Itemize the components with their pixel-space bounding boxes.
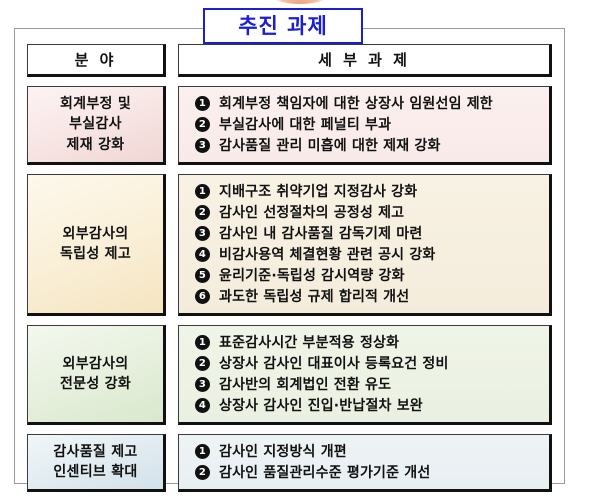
- decorative-top-arc: [272, 0, 328, 4]
- table-row: 외부감사의 전문성 강화 1 표준감사시간 부분적용 정상화 2 상장사 감사인…: [27, 325, 552, 425]
- list-item-text: 감사인 지정방식 개편: [219, 445, 347, 459]
- detail-cell-3: 1 표준감사시간 부분적용 정상화 2 상장사 감사인 대표이사 등록요건 정비…: [178, 325, 552, 425]
- bullet-number-icon: 1: [195, 184, 210, 199]
- tasks-table: 분 야 세 부 과 제 회계부정 및 부실감사 제재 강화 1 회계부정 책임자…: [27, 44, 552, 501]
- list-item: 3 감사품질 관리 미흡에 대한 제재 강화: [195, 135, 539, 156]
- list-item: 2 상장사 감사인 대표이사 등록요건 정비: [195, 353, 539, 374]
- bullet-number-icon: 6: [195, 289, 210, 304]
- list-item: 2 감사인 선정절차의 공정성 제고: [195, 202, 539, 223]
- category-cell-3: 외부감사의 전문성 강화: [27, 325, 166, 425]
- bullet-number-icon: 4: [195, 247, 210, 262]
- list-item-text: 회계부정 책임자에 대한 상장사 임원선임 제한: [219, 97, 493, 111]
- list-item: 2 감사인 품질관리수준 평가기준 개선: [195, 462, 539, 483]
- category-label-3: 외부감사의 전문성 강화: [60, 354, 131, 395]
- category-cell-2: 외부감사의 독립성 제고: [27, 174, 166, 316]
- list-item: 3 감사인 내 감사품질 감독기제 마련: [195, 223, 539, 244]
- bullet-number-icon: 1: [195, 444, 210, 459]
- page-title-badge: 추진 과제: [203, 8, 363, 44]
- category-label-1: 회계부정 및 부실감사 제재 강화: [60, 94, 131, 155]
- list-item-text: 부실감사에 대한 페널티 부과: [219, 118, 391, 132]
- header-label-category: 분 야: [75, 49, 117, 70]
- list-item-text: 상장사 감사인 대표이사 등록요건 정비: [219, 357, 449, 371]
- list-item-text: 감사인 내 감사품질 감독기제 마련: [219, 227, 422, 241]
- list-item: 1 표준감사시간 부분적용 정상화: [195, 332, 539, 353]
- detail-cell-2: 1 지배구조 취약기업 지정감사 강화 2 감사인 선정절차의 공정성 제고 3…: [178, 174, 552, 316]
- category-label-4: 감사품질 제고 인센티브 확대: [53, 442, 137, 483]
- list-item-text: 감사인 품질관리수준 평가기준 개선: [219, 466, 430, 480]
- header-cell-detail: 세 부 과 제: [178, 44, 552, 77]
- list-item: 4 상장사 감사인 진입·반납절차 보완: [195, 395, 539, 416]
- bullet-number-icon: 1: [195, 96, 210, 111]
- list-item-text: 상장사 감사인 진입·반납절차 보완: [219, 399, 423, 413]
- detail-cell-1: 1 회계부정 책임자에 대한 상장사 임원선임 제한 2 부실감사에 대한 페널…: [178, 86, 552, 165]
- list-item-text: 감사인 선정절차의 공정성 제고: [219, 206, 404, 220]
- list-item: 1 회계부정 책임자에 대한 상장사 임원선임 제한: [195, 93, 539, 114]
- table-row: 감사품질 제고 인센티브 확대 1 감사인 지정방식 개편 2 감사인 품질관리…: [27, 434, 552, 492]
- list-item-text: 지배구조 취약기업 지정감사 강화: [219, 185, 417, 199]
- bullet-number-icon: 2: [195, 465, 210, 480]
- list-item-text: 윤리기준·독립성 감시역량 강화: [219, 269, 405, 283]
- list-item-text: 과도한 독립성 규제 합리적 개선: [219, 290, 409, 304]
- bullet-number-icon: 3: [195, 138, 210, 153]
- list-item: 1 감사인 지정방식 개편: [195, 441, 539, 462]
- bullet-number-icon: 1: [195, 335, 210, 350]
- list-item: 2 부실감사에 대한 페널티 부과: [195, 114, 539, 135]
- bullet-number-icon: 5: [195, 268, 210, 283]
- category-label-2: 외부감사의 독립성 제고: [60, 224, 131, 265]
- list-item-text: 감사반의 회계법인 전환 유도: [219, 378, 391, 392]
- bullet-number-icon: 2: [195, 117, 210, 132]
- header-cell-category: 분 야: [27, 44, 166, 77]
- list-item: 5 윤리기준·독립성 감시역량 강화: [195, 265, 539, 286]
- list-item-text: 표준감사시간 부분적용 정상화: [219, 336, 399, 350]
- page-title: 추진 과제: [238, 16, 328, 37]
- table-row: 외부감사의 독립성 제고 1 지배구조 취약기업 지정감사 강화 2 감사인 선…: [27, 174, 552, 316]
- bullet-number-icon: 4: [195, 398, 210, 413]
- category-cell-1: 회계부정 및 부실감사 제재 강화: [27, 86, 166, 165]
- list-item: 1 지배구조 취약기업 지정감사 강화: [195, 181, 539, 202]
- list-item-text: 비감사용역 체결현황 관련 공시 강화: [219, 248, 436, 262]
- list-item-text: 감사품질 관리 미흡에 대한 제재 강화: [219, 139, 441, 153]
- category-cell-4: 감사품질 제고 인센티브 확대: [27, 434, 166, 492]
- bullet-number-icon: 2: [195, 205, 210, 220]
- header-label-detail: 세 부 과 제: [318, 49, 410, 70]
- table-row: 회계부정 및 부실감사 제재 강화 1 회계부정 책임자에 대한 상장사 임원선…: [27, 86, 552, 165]
- bullet-number-icon: 3: [195, 226, 210, 241]
- list-item: 6 과도한 독립성 규제 합리적 개선: [195, 286, 539, 307]
- bullet-number-icon: 2: [195, 356, 210, 371]
- detail-cell-4: 1 감사인 지정방식 개편 2 감사인 품질관리수준 평가기준 개선: [178, 434, 552, 492]
- list-item: 3 감사반의 회계법인 전환 유도: [195, 374, 539, 395]
- list-item: 4 비감사용역 체결현황 관련 공시 강화: [195, 244, 539, 265]
- table-header-row: 분 야 세 부 과 제: [27, 44, 552, 77]
- bullet-number-icon: 3: [195, 377, 210, 392]
